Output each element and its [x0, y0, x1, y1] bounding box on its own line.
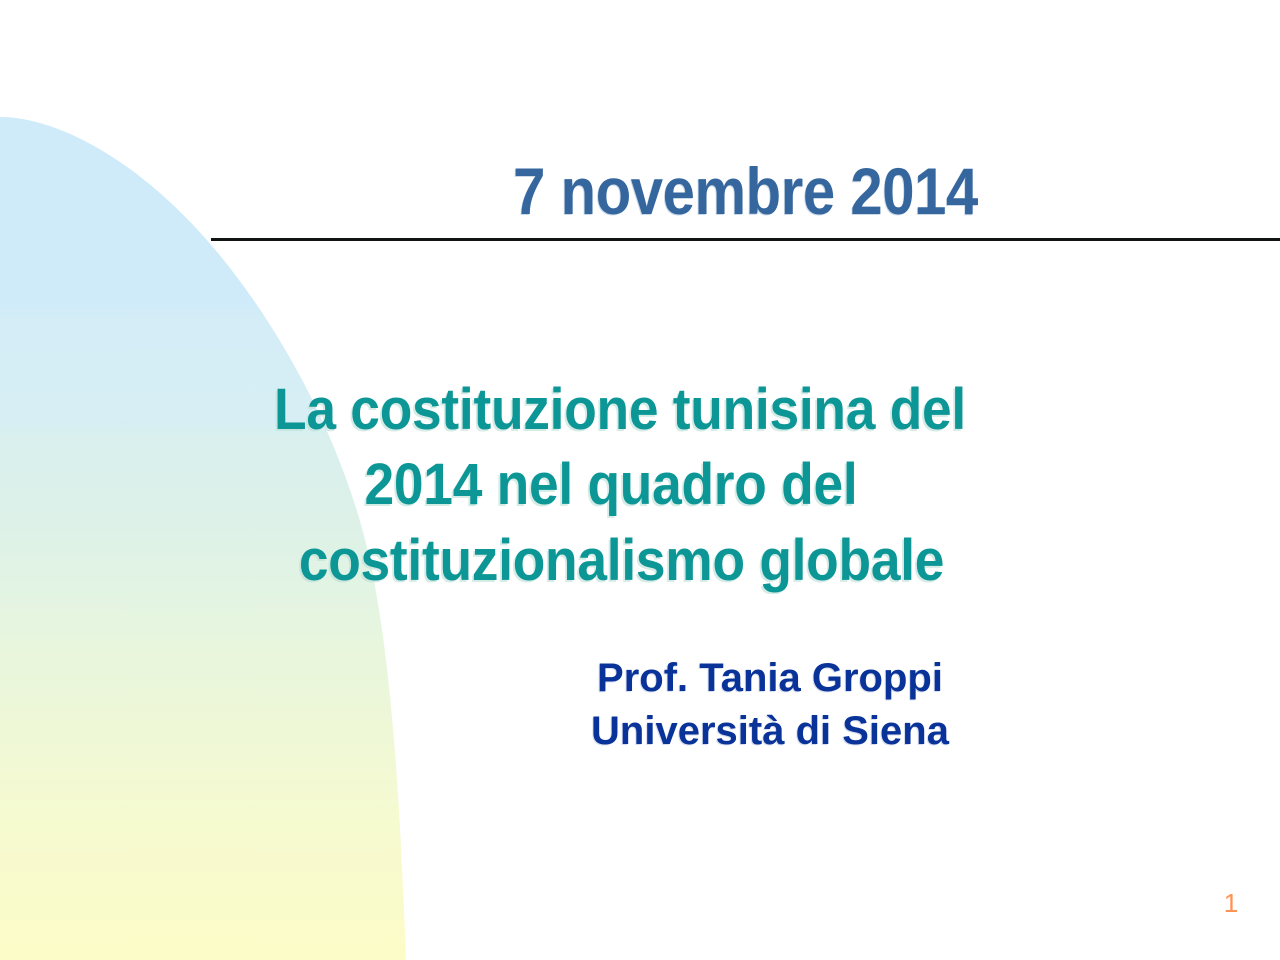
author-affiliation: Università di Siena: [330, 705, 1210, 758]
title-divider-rule: [211, 238, 1280, 241]
slide-canvas: 7 novembre 2014 La costituzione tunisina…: [0, 0, 1280, 960]
author-name: Prof. Tania Groppi: [330, 652, 1210, 705]
main-heading: La costituzione tunisina del 2014 nel qu…: [150, 372, 1090, 598]
slide-date-title: 7 novembre 2014: [275, 148, 1216, 234]
author-block: Prof. Tania Groppi Università di Siena: [330, 652, 1210, 758]
main-heading-line-2: 2014 nel quadro del: [179, 447, 1044, 522]
main-heading-line-1: La costituzione tunisina del: [188, 372, 1053, 447]
main-heading-line-3: costituzionalismo globale: [189, 523, 1054, 598]
slide-number: 1: [1214, 890, 1248, 916]
